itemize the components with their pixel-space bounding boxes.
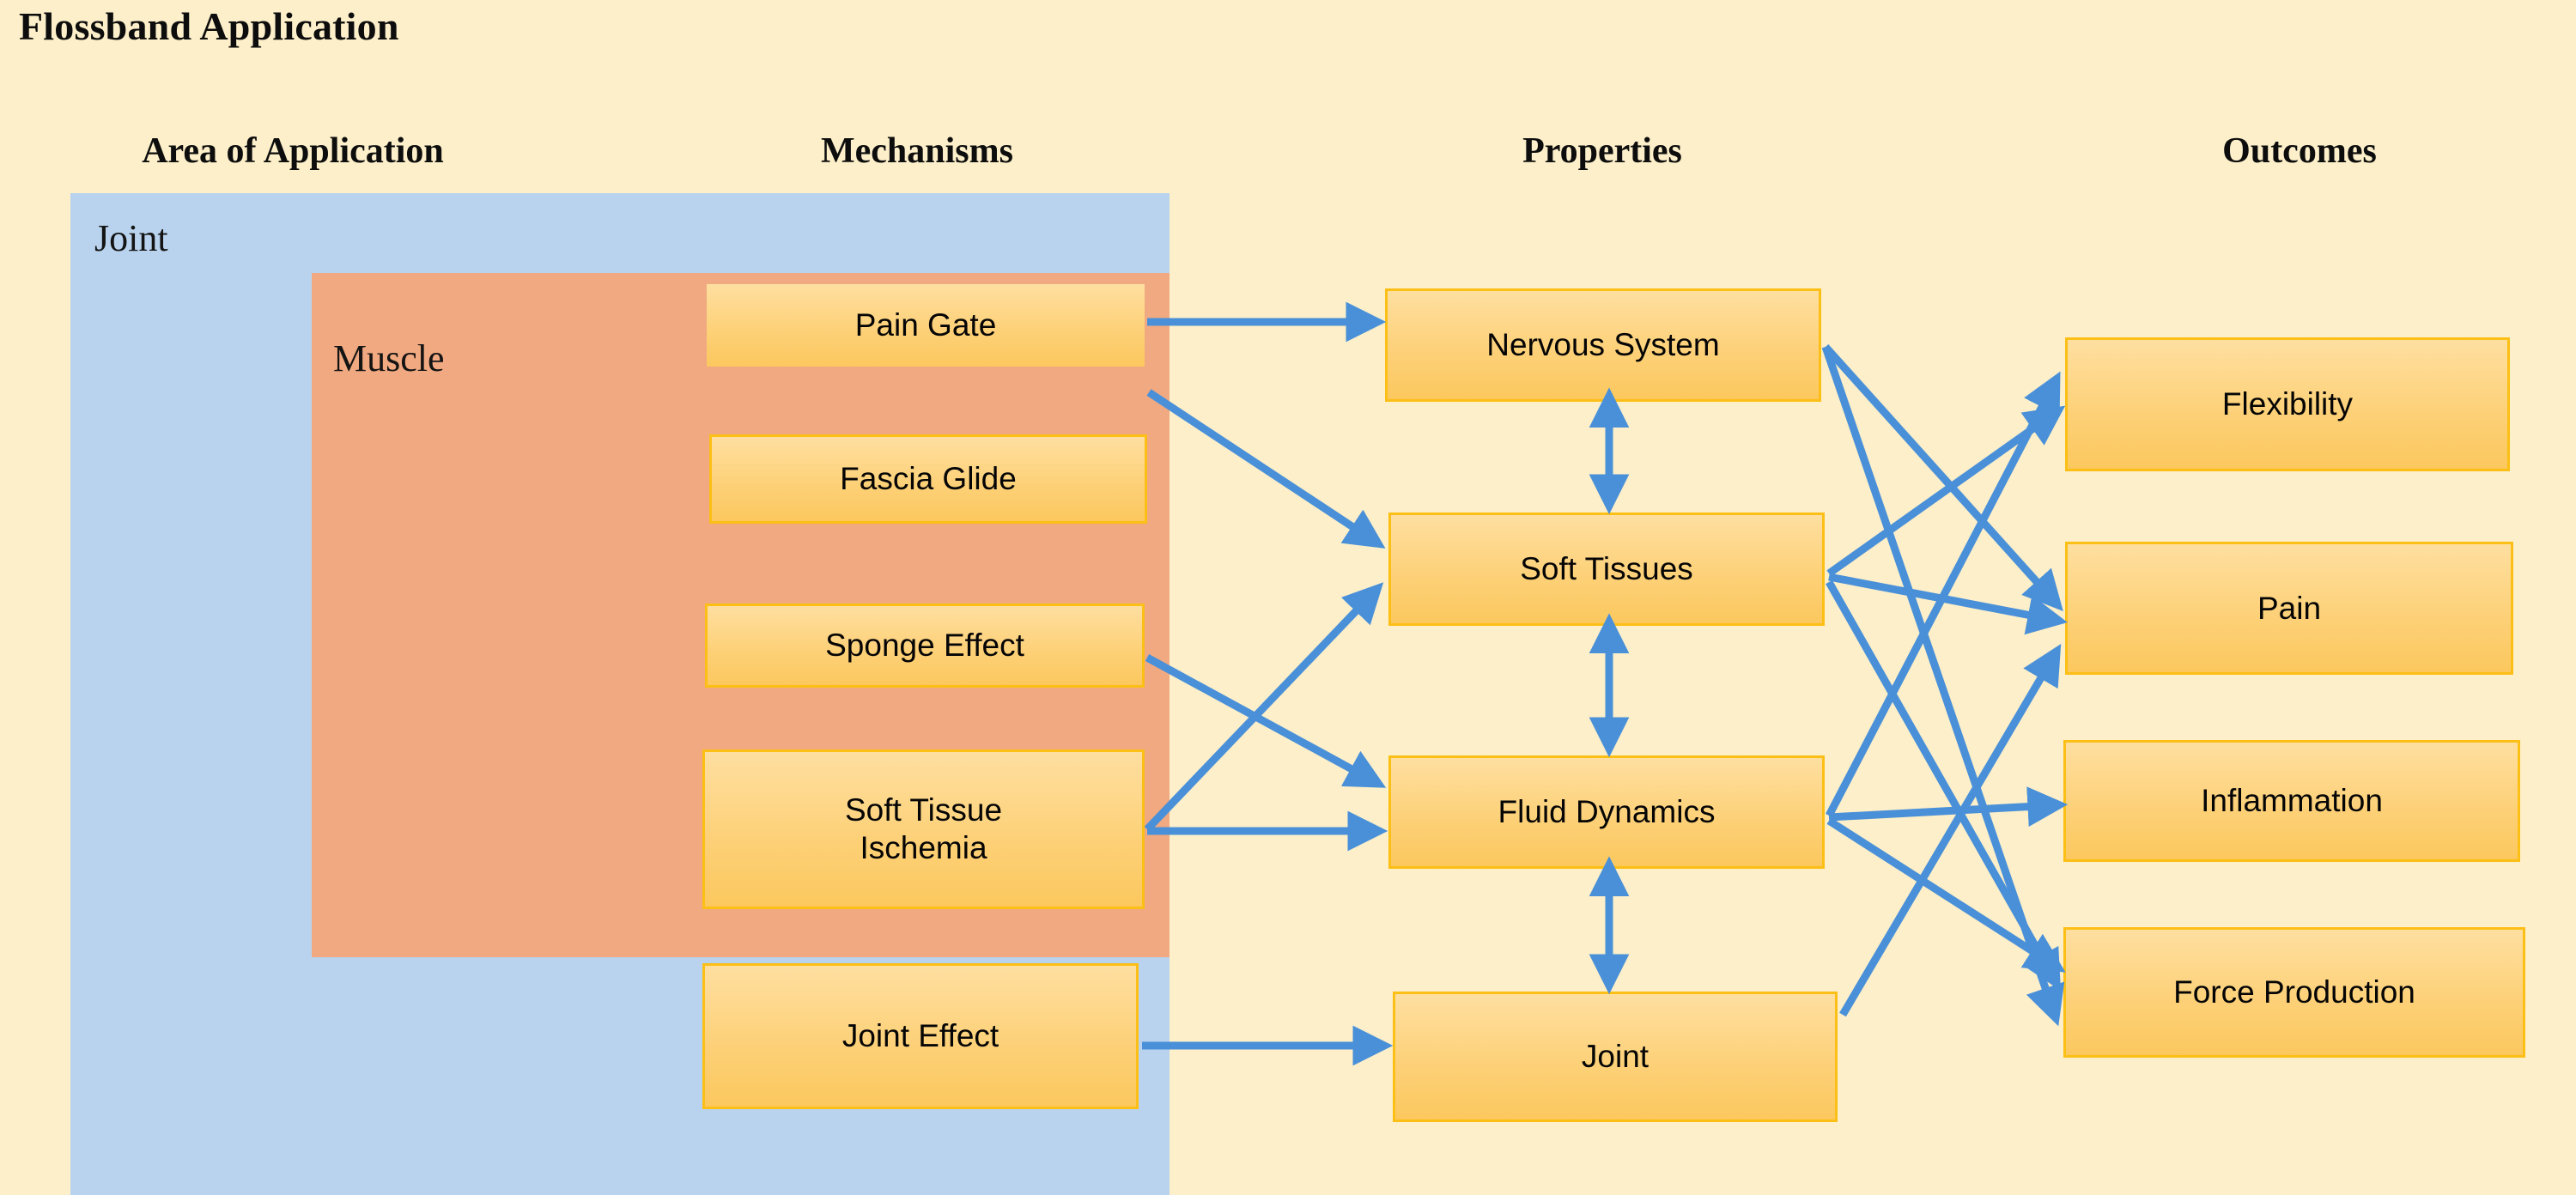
mechanism-box-fascia-glide[interactable]: Fascia Glide (709, 434, 1147, 524)
arrow-ischemia-to-soft-tissues (1147, 592, 1374, 829)
mechanism-box-pain-gate[interactable]: Pain Gate (707, 284, 1145, 367)
arrow-fluid-dynamics-to-force-production (1829, 821, 2054, 965)
property-box-nervous-system[interactable]: Nervous System (1385, 288, 1821, 402)
arrow-soft-tissues-to-pain (1829, 577, 2054, 620)
property-box-joint[interactable]: Joint (1393, 992, 1838, 1122)
outcome-box-force-production[interactable]: Force Production (2063, 927, 2525, 1058)
outcome-box-pain[interactable]: Pain (2065, 542, 2513, 675)
mechanism-box-sponge-effect[interactable]: Sponge Effect (705, 604, 1145, 688)
arrow-soft-tissues-to-flexibility (1829, 414, 2054, 573)
arrow-nervous-system-to-pain (1826, 347, 2054, 601)
arrow-sponge-effect-to-fluid-dynamics (1147, 658, 1374, 781)
outcome-box-inflammation[interactable]: Inflammation (2063, 740, 2520, 862)
property-box-soft-tissues[interactable]: Soft Tissues (1388, 513, 1825, 626)
column-header-properties: Properties (1364, 130, 1841, 172)
property-box-fluid-dynamics[interactable]: Fluid Dynamics (1388, 755, 1825, 869)
mechanism-box-joint-effect[interactable]: Joint Effect (702, 963, 1139, 1109)
page-title: Flossband Application (19, 3, 399, 49)
diagram-canvas: Flossband Application Area of Applicatio… (0, 0, 2576, 1195)
arrow-joint-to-flexibility (1843, 656, 2054, 1015)
arrow-nervous-system-to-force-production (1826, 347, 2054, 1013)
arrow-fluid-dynamics-to-pain (1829, 384, 2054, 816)
arrow-fluid-dynamics-to-inflammation (1829, 805, 2054, 817)
outcome-box-flexibility[interactable]: Flexibility (2065, 337, 2510, 471)
region-label-joint: Joint (94, 216, 168, 260)
arrow-soft-tissues-to-inflammation (1829, 582, 2054, 979)
arrow-fascia-glide-to-soft-tissues (1149, 392, 1374, 541)
column-header-outcomes: Outcomes (2061, 130, 2538, 172)
mechanism-box-soft-tissue-ischemia[interactable]: Soft Tissue Ischemia (702, 749, 1145, 909)
column-header-area-of-application: Area of Application (54, 130, 532, 172)
region-label-muscle: Muscle (333, 337, 445, 380)
column-header-mechanisms: Mechanisms (678, 130, 1156, 172)
